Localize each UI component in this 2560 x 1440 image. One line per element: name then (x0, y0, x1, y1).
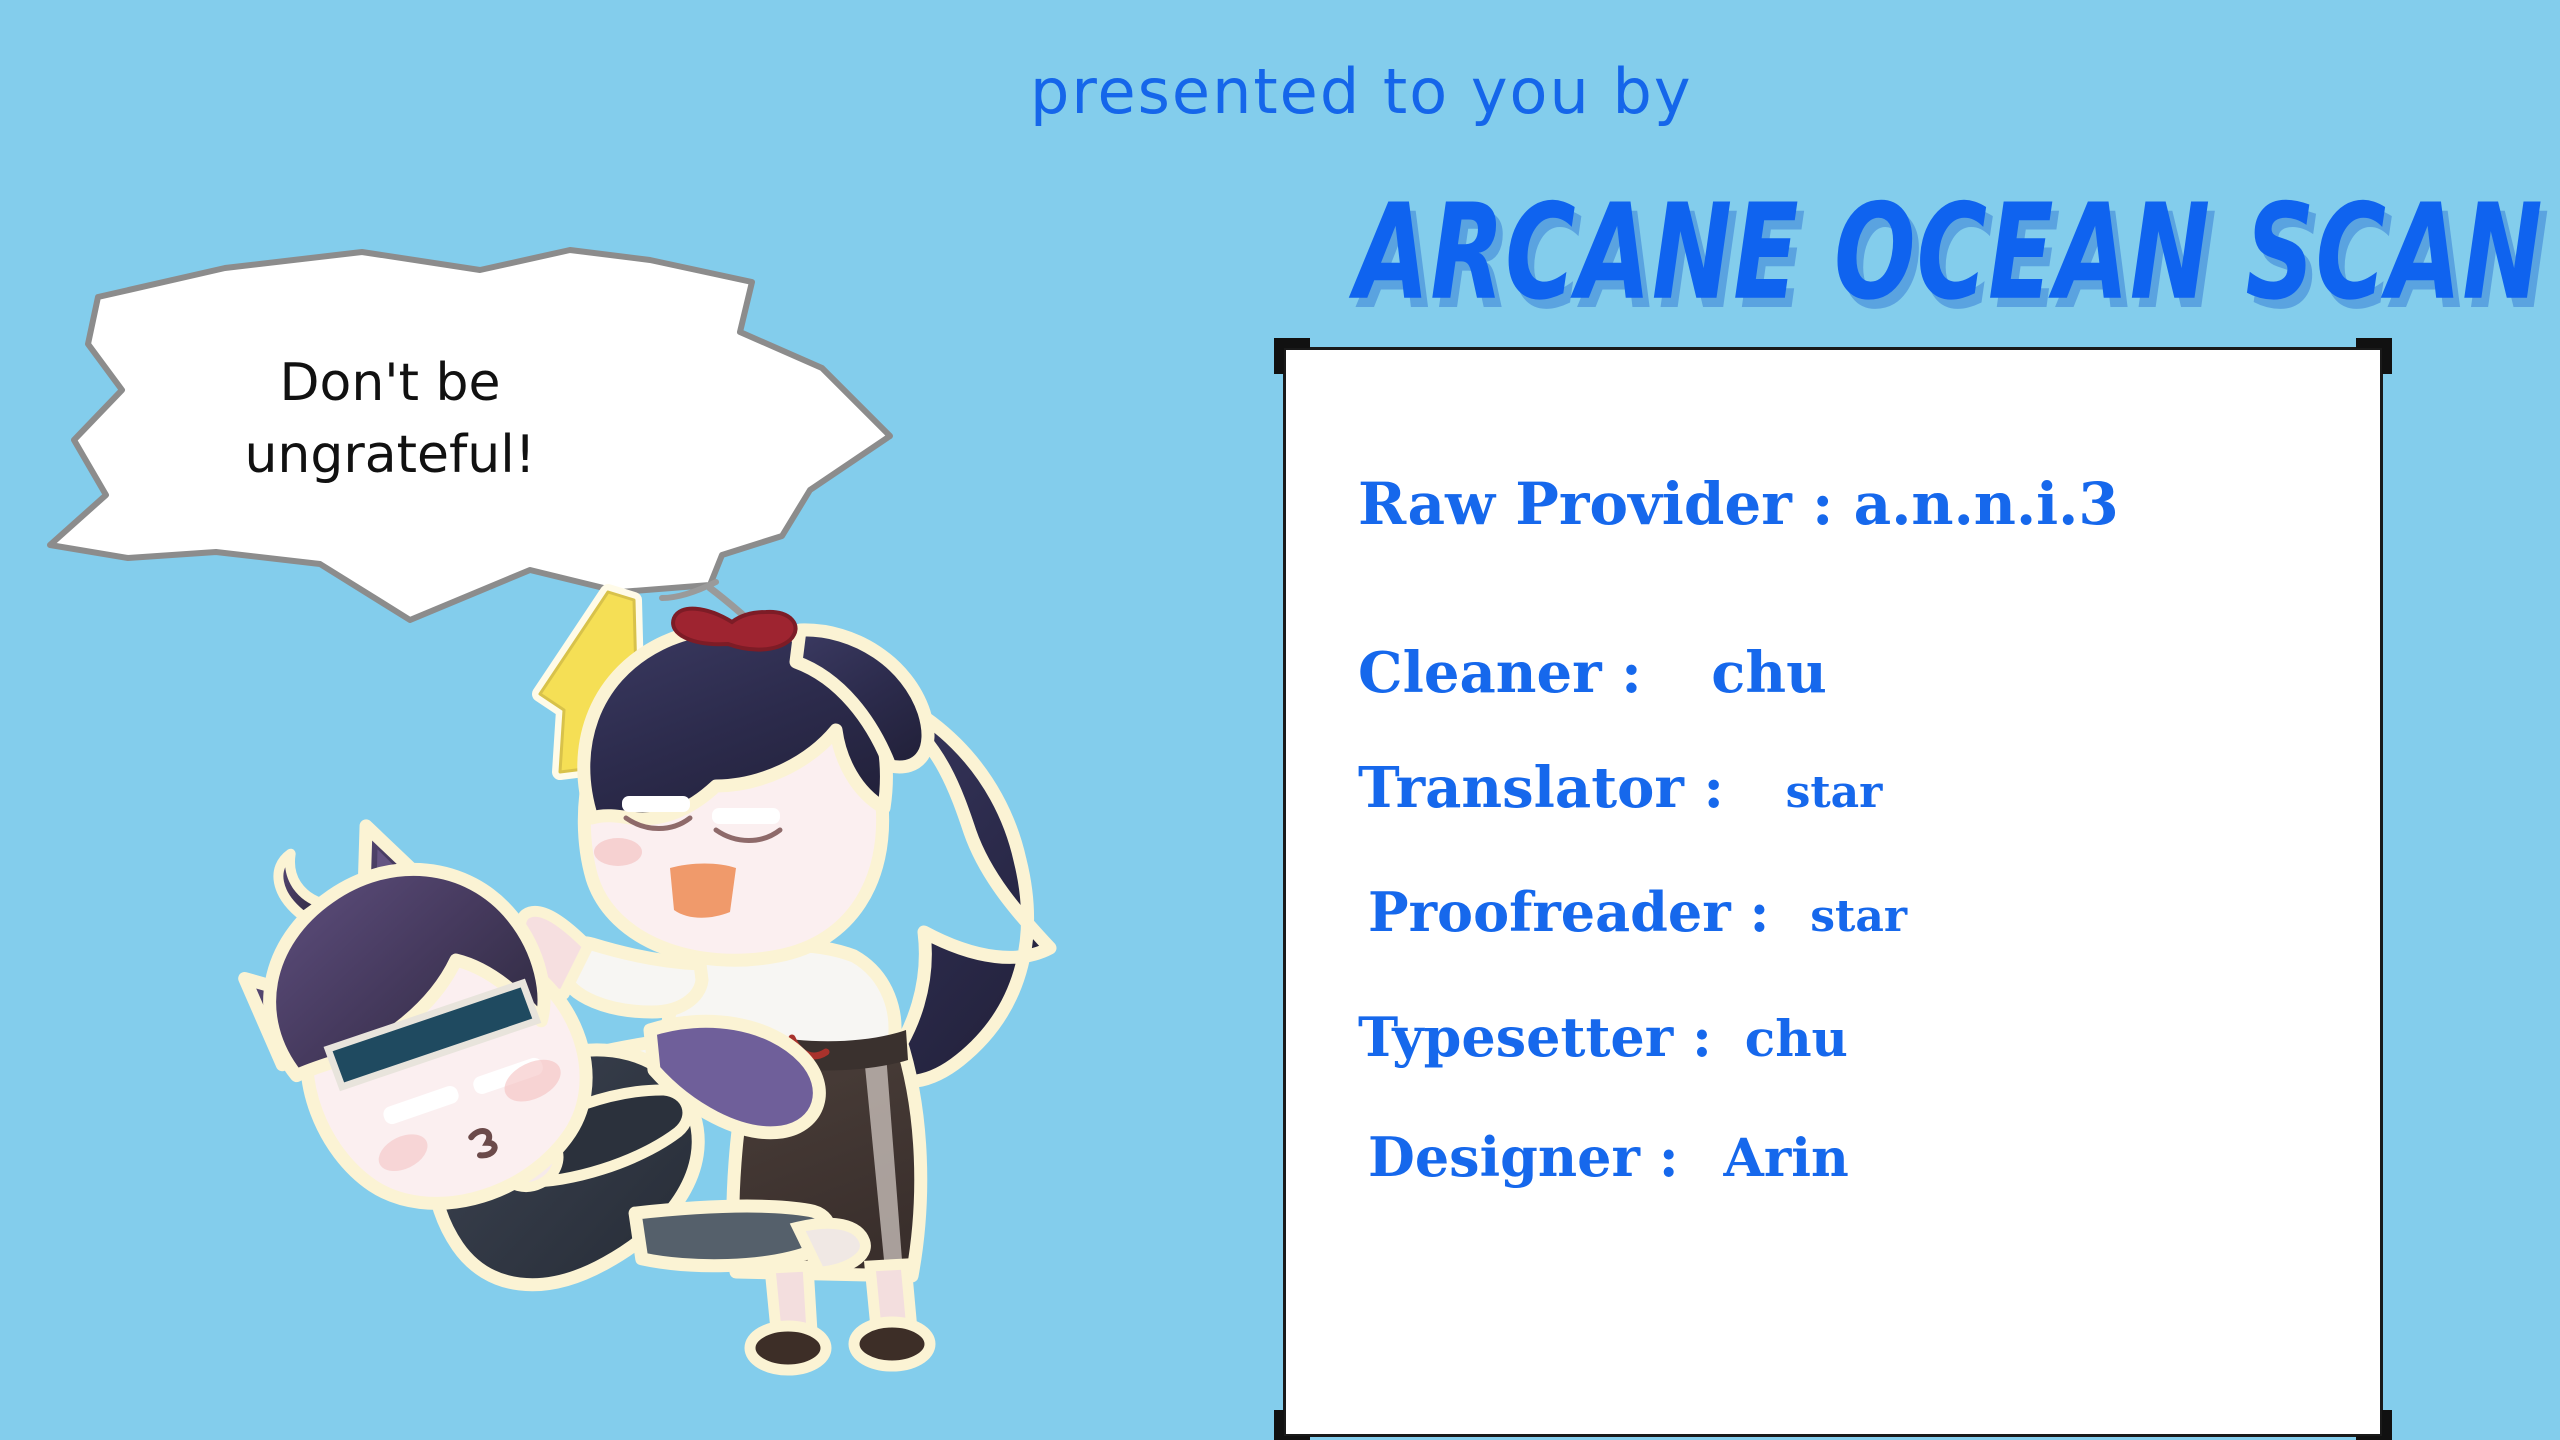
credit-role-label: Translator : (1358, 755, 1724, 821)
credits-list: Raw Provider : a.n.n.i.3 Cleaner : chu T… (1286, 350, 2380, 1434)
credit-row-typesetter: Typesetter : chu (1358, 1005, 1848, 1069)
sticker-outline-group (201, 592, 1050, 1440)
speech-bubble-text: Don't be ungrateful! (10, 348, 770, 492)
characters-illustration (140, 560, 1300, 1440)
characters-svg (140, 560, 1300, 1440)
credit-row-proofreader: Proofreader : star (1368, 880, 1907, 944)
credit-name-value: star (1788, 891, 1907, 942)
credit-name-value: chu (1661, 640, 1827, 706)
brand-logo: ARCANE OCEAN SCAN (1355, 175, 2355, 325)
credit-name-value: a.n.n.i.3 (1854, 470, 2119, 538)
credit-role-label: Proofreader : (1368, 880, 1769, 944)
credit-role-label: Cleaner : (1358, 640, 1642, 706)
presented-by-label: presented to you by (1030, 55, 1693, 128)
brand-name-text: ARCANE OCEAN SCAN (1355, 175, 2544, 329)
credits-box: Raw Provider : a.n.n.i.3 Cleaner : chu T… (1283, 347, 2383, 1437)
page-root: presented to you by ARCANE OCEAN SCAN Do… (0, 0, 2560, 1440)
credit-row-translator: Translator : star (1358, 755, 1882, 821)
credit-row-designer: Designer : Arin (1368, 1125, 1849, 1189)
credit-row-raw-provider: Raw Provider : a.n.n.i.3 (1358, 470, 2119, 538)
credit-role-label: Typesetter : (1358, 1005, 1712, 1069)
credit-name-value: Arin (1697, 1128, 1848, 1189)
credit-role-label: Raw Provider : (1358, 470, 1833, 538)
credit-row-cleaner: Cleaner : chu (1358, 640, 1827, 706)
credit-name-value: chu (1731, 1009, 1848, 1068)
credit-role-label: Designer : (1368, 1125, 1679, 1189)
credit-name-value: star (1744, 767, 1883, 818)
